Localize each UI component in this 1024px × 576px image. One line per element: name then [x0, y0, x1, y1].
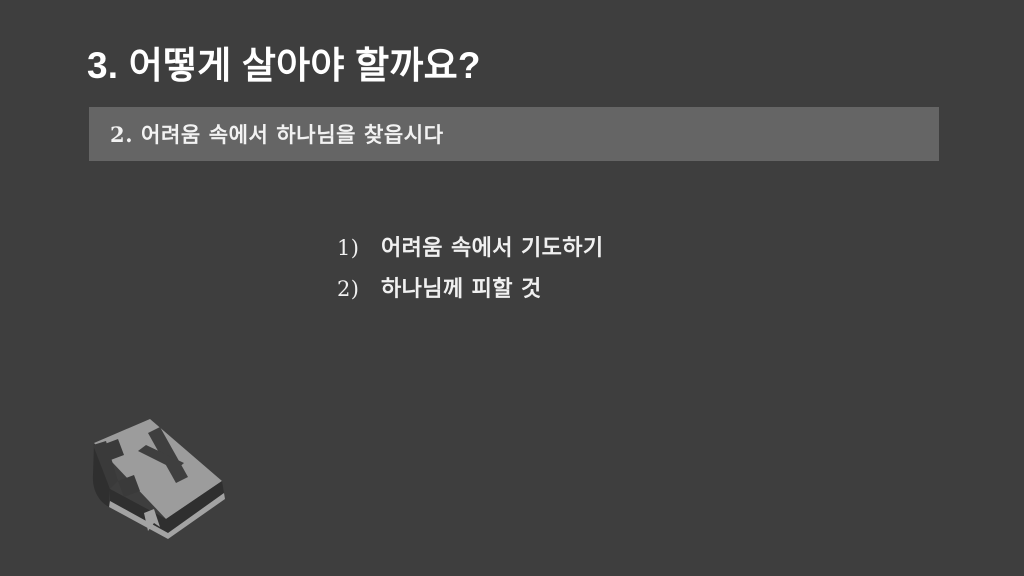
list-item-label: 어려움 속에서 기도하기 [381, 230, 604, 262]
slide-title: 3. 어떻게 살아야 할까요? [87, 42, 967, 90]
list-item-marker: 1) [337, 236, 381, 260]
list-item: 1) 어려움 속에서 기도하기 [337, 230, 897, 271]
bible-book-cross-icon-graphic [88, 415, 228, 543]
list-item-label: 하나님께 피할 것 [381, 271, 542, 303]
list-item: 2) 하나님께 피할 것 [337, 271, 897, 312]
section-header-bar: 2. 어려움 속에서 하나님을 찾읍시다 [89, 107, 939, 161]
slide-canvas: 3. 어떻게 살아야 할까요? 2. 어려움 속에서 하나님을 찾읍시다 1) … [0, 0, 1024, 576]
bullet-list: 1) 어려움 속에서 기도하기 2) 하나님께 피할 것 [337, 230, 897, 312]
list-item-marker: 2) [337, 277, 381, 301]
section-header-label: 2. 어려움 속에서 하나님을 찾읍시다 [110, 107, 444, 161]
bible-book-cross-icon [88, 415, 228, 543]
